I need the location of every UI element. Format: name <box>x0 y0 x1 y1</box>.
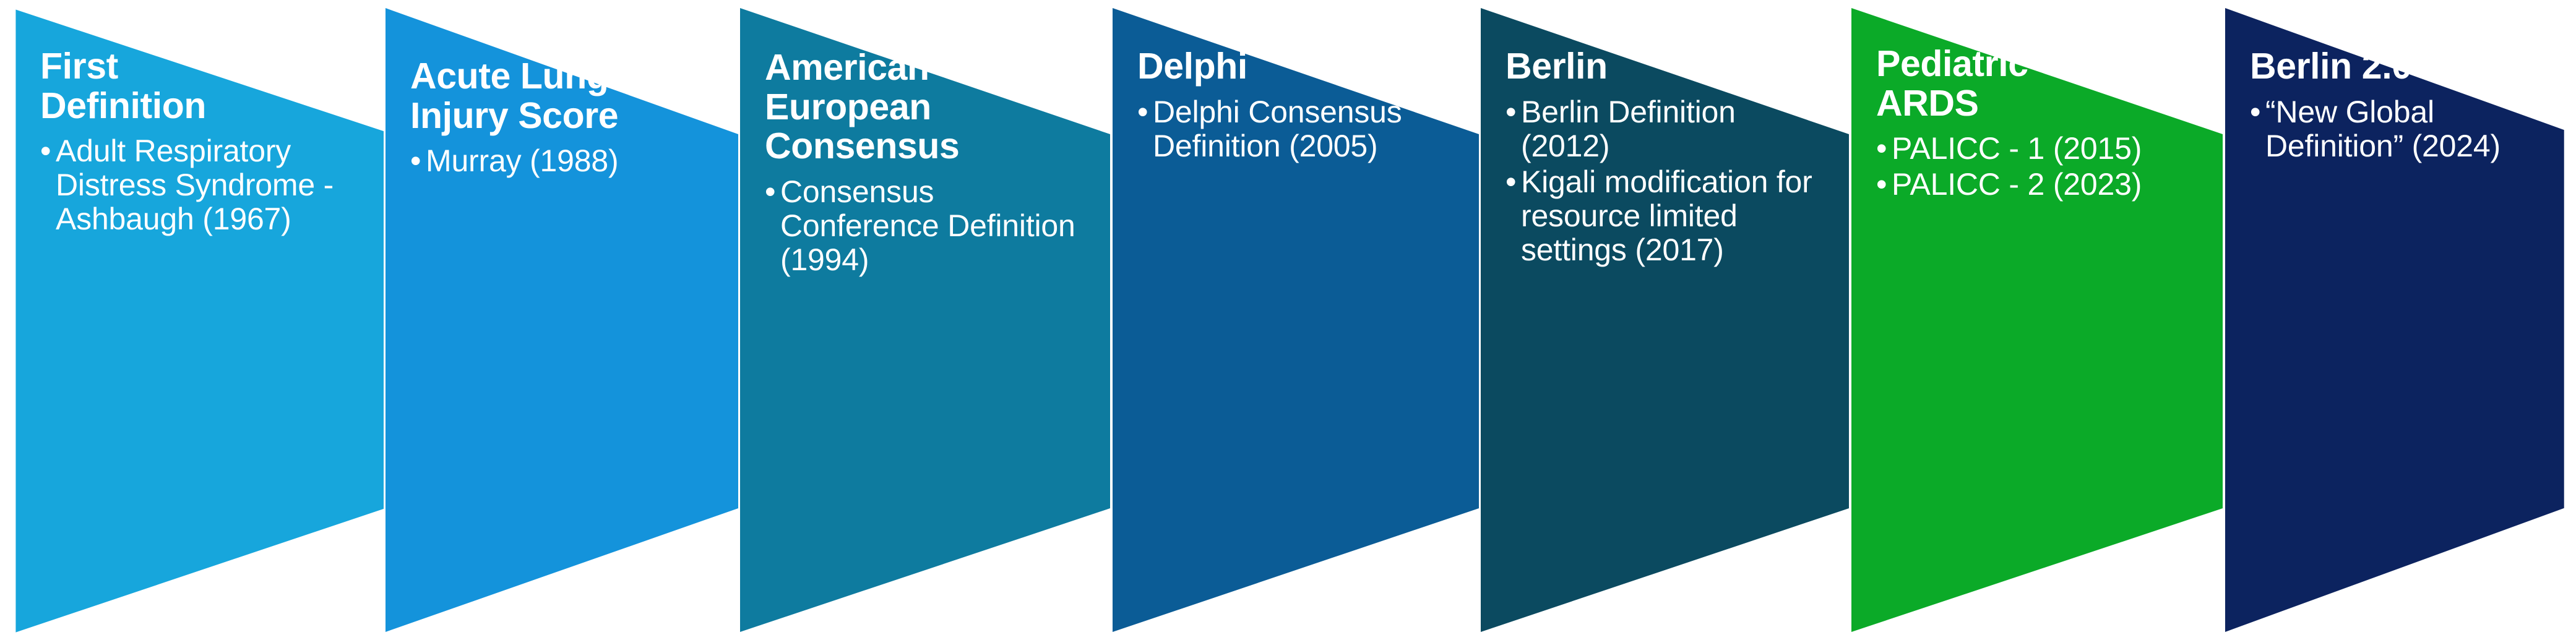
chevron-item-list: “New Global Definition” (2024) <box>2250 95 2555 165</box>
chevron-stage-berlin-2-0[interactable]: Berlin 2.0 “New Global Definition” (2024… <box>2225 0 2576 640</box>
chevron-title: Berlin <box>1506 47 1828 87</box>
chevron-item-list: Consensus Conference Definition (1994) <box>765 175 1089 279</box>
list-item: PALICC - 1 (2015) <box>1876 132 2202 166</box>
chevron-stage-delphi[interactable]: Delphi Delphi Consensus Definition (2005… <box>1113 0 1479 640</box>
chevron-title: Berlin 2.0 <box>2250 47 2555 87</box>
chevron-content: Berlin 2.0 “New Global Definition” (2024… <box>2225 0 2576 640</box>
chevron-content: American – European Consensus Consensus … <box>740 0 1110 640</box>
chevron-item-list: Delphi Consensus Definition (2005) <box>1137 95 1458 165</box>
chevron-timeline-diagram: First Definition Adult Respiratory Distr… <box>0 0 2576 640</box>
chevron-title: Acute Lung Injury Score <box>410 57 717 135</box>
chevron-content: Pediatric ARDS PALICC - 1 (2015) PALICC … <box>1851 0 2223 640</box>
list-item: Adult Respiratory Distress Syndrome - As… <box>40 134 363 236</box>
list-item: Consensus Conference Definition (1994) <box>765 175 1089 277</box>
chevron-stage-american-european-consensus[interactable]: American – European Consensus Consensus … <box>740 0 1110 640</box>
chevron-item-list: Adult Respiratory Distress Syndrome - As… <box>40 134 363 238</box>
list-item: PALICC - 2 (2023) <box>1876 168 2202 202</box>
chevron-item-list: Berlin Definition (2012) Kigali modifica… <box>1506 95 1828 269</box>
list-item: Berlin Definition (2012) <box>1506 95 1828 163</box>
list-item: Kigali modification for resource limited… <box>1506 165 1828 267</box>
chevron-stage-berlin[interactable]: Berlin Berlin Definition (2012) Kigali m… <box>1481 0 1849 640</box>
chevron-stage-pediatric-ards[interactable]: Pediatric ARDS PALICC - 1 (2015) PALICC … <box>1851 0 2223 640</box>
chevron-content: Berlin Berlin Definition (2012) Kigali m… <box>1481 0 1849 640</box>
chevron-stage-first-definition[interactable]: First Definition Adult Respiratory Distr… <box>0 0 384 640</box>
list-item: Murray (1988) <box>410 144 717 178</box>
list-item: “New Global Definition” (2024) <box>2250 95 2555 163</box>
chevron-content: Delphi Delphi Consensus Definition (2005… <box>1113 0 1479 640</box>
chevron-item-list: Murray (1988) <box>410 144 717 180</box>
chevron-title: Delphi <box>1137 47 1458 87</box>
chevron-content: Acute Lung Injury Score Murray (1988) <box>386 0 738 640</box>
chevron-title: American – European Consensus <box>765 48 1089 166</box>
chevron-title: Pediatric ARDS <box>1876 45 2202 123</box>
chevron-item-list: PALICC - 1 (2015) PALICC - 2 (2023) <box>1876 132 2202 203</box>
chevron-title: First Definition <box>40 47 363 126</box>
chevron-stage-acute-lung-injury-score[interactable]: Acute Lung Injury Score Murray (1988) <box>386 0 738 640</box>
chevron-content: First Definition Adult Respiratory Distr… <box>0 0 384 640</box>
list-item: Delphi Consensus Definition (2005) <box>1137 95 1458 163</box>
